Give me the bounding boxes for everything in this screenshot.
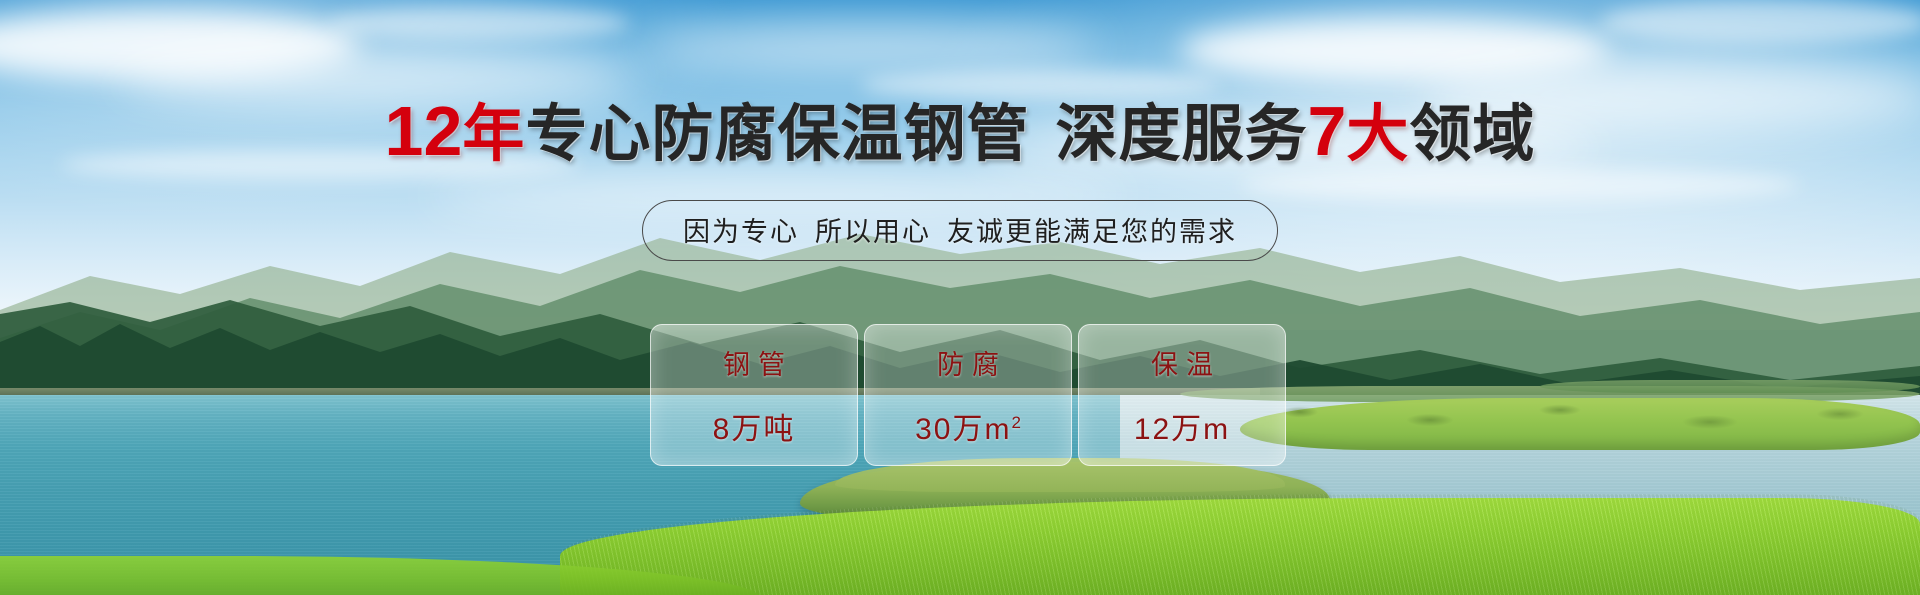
subtitle-pill: 因为专心所以用心友诚更能满足您的需求 (642, 200, 1278, 261)
stat-card-steel-pipe[interactable]: 钢管 8万吨 (650, 324, 858, 466)
headline-fields-number: 7 (1307, 92, 1346, 170)
headline-fields-unit: 大 (1346, 100, 1409, 169)
headline-service-phrase: 深度服务 (1055, 100, 1307, 169)
stat-card-value: 30万m2 (915, 404, 1021, 448)
subtitle-segment-3: 友诚更能满足您的需求 (947, 217, 1237, 247)
stat-card-value-text: 8万吨 (713, 413, 796, 446)
headline-fields-word: 领域 (1409, 100, 1535, 169)
stat-card-value-text: 30万m (915, 413, 1011, 446)
headline-years-number: 12 (385, 92, 463, 170)
stat-card-value-text: 12万m (1134, 413, 1230, 446)
headline-years-unit: 年 (462, 100, 525, 169)
stat-card-value: 8万吨 (713, 404, 796, 448)
subtitle-segment-2: 所以用心 (815, 217, 931, 247)
stat-card-insulation[interactable]: 保温 12万m (1078, 324, 1286, 466)
marsh-tufts (1240, 396, 1920, 452)
stat-card-label: 钢管 (715, 343, 793, 382)
stat-card-group: 钢管 8万吨 防腐 30万m2 保温 12万m (650, 324, 1290, 464)
page-title: 12年专心防腐保温钢管深度服务7大领域 (0, 96, 1920, 166)
headline-main-phrase: 专心防腐保温钢管 (525, 100, 1029, 169)
stat-card-label: 防腐 (929, 343, 1007, 382)
hero-banner: 12年专心防腐保温钢管深度服务7大领域 因为专心所以用心友诚更能满足您的需求 钢… (0, 0, 1920, 595)
subtitle-container: 因为专心所以用心友诚更能满足您的需求 (0, 200, 1920, 261)
stat-card-anticorrosion[interactable]: 防腐 30万m2 (864, 324, 1072, 466)
stat-card-value-sup: 2 (1011, 413, 1020, 432)
far-shore-band (1540, 380, 1920, 393)
stat-card-label: 保温 (1143, 343, 1221, 382)
subtitle-segment-1: 因为专心 (683, 217, 799, 247)
stat-card-value: 12万m (1134, 404, 1230, 448)
